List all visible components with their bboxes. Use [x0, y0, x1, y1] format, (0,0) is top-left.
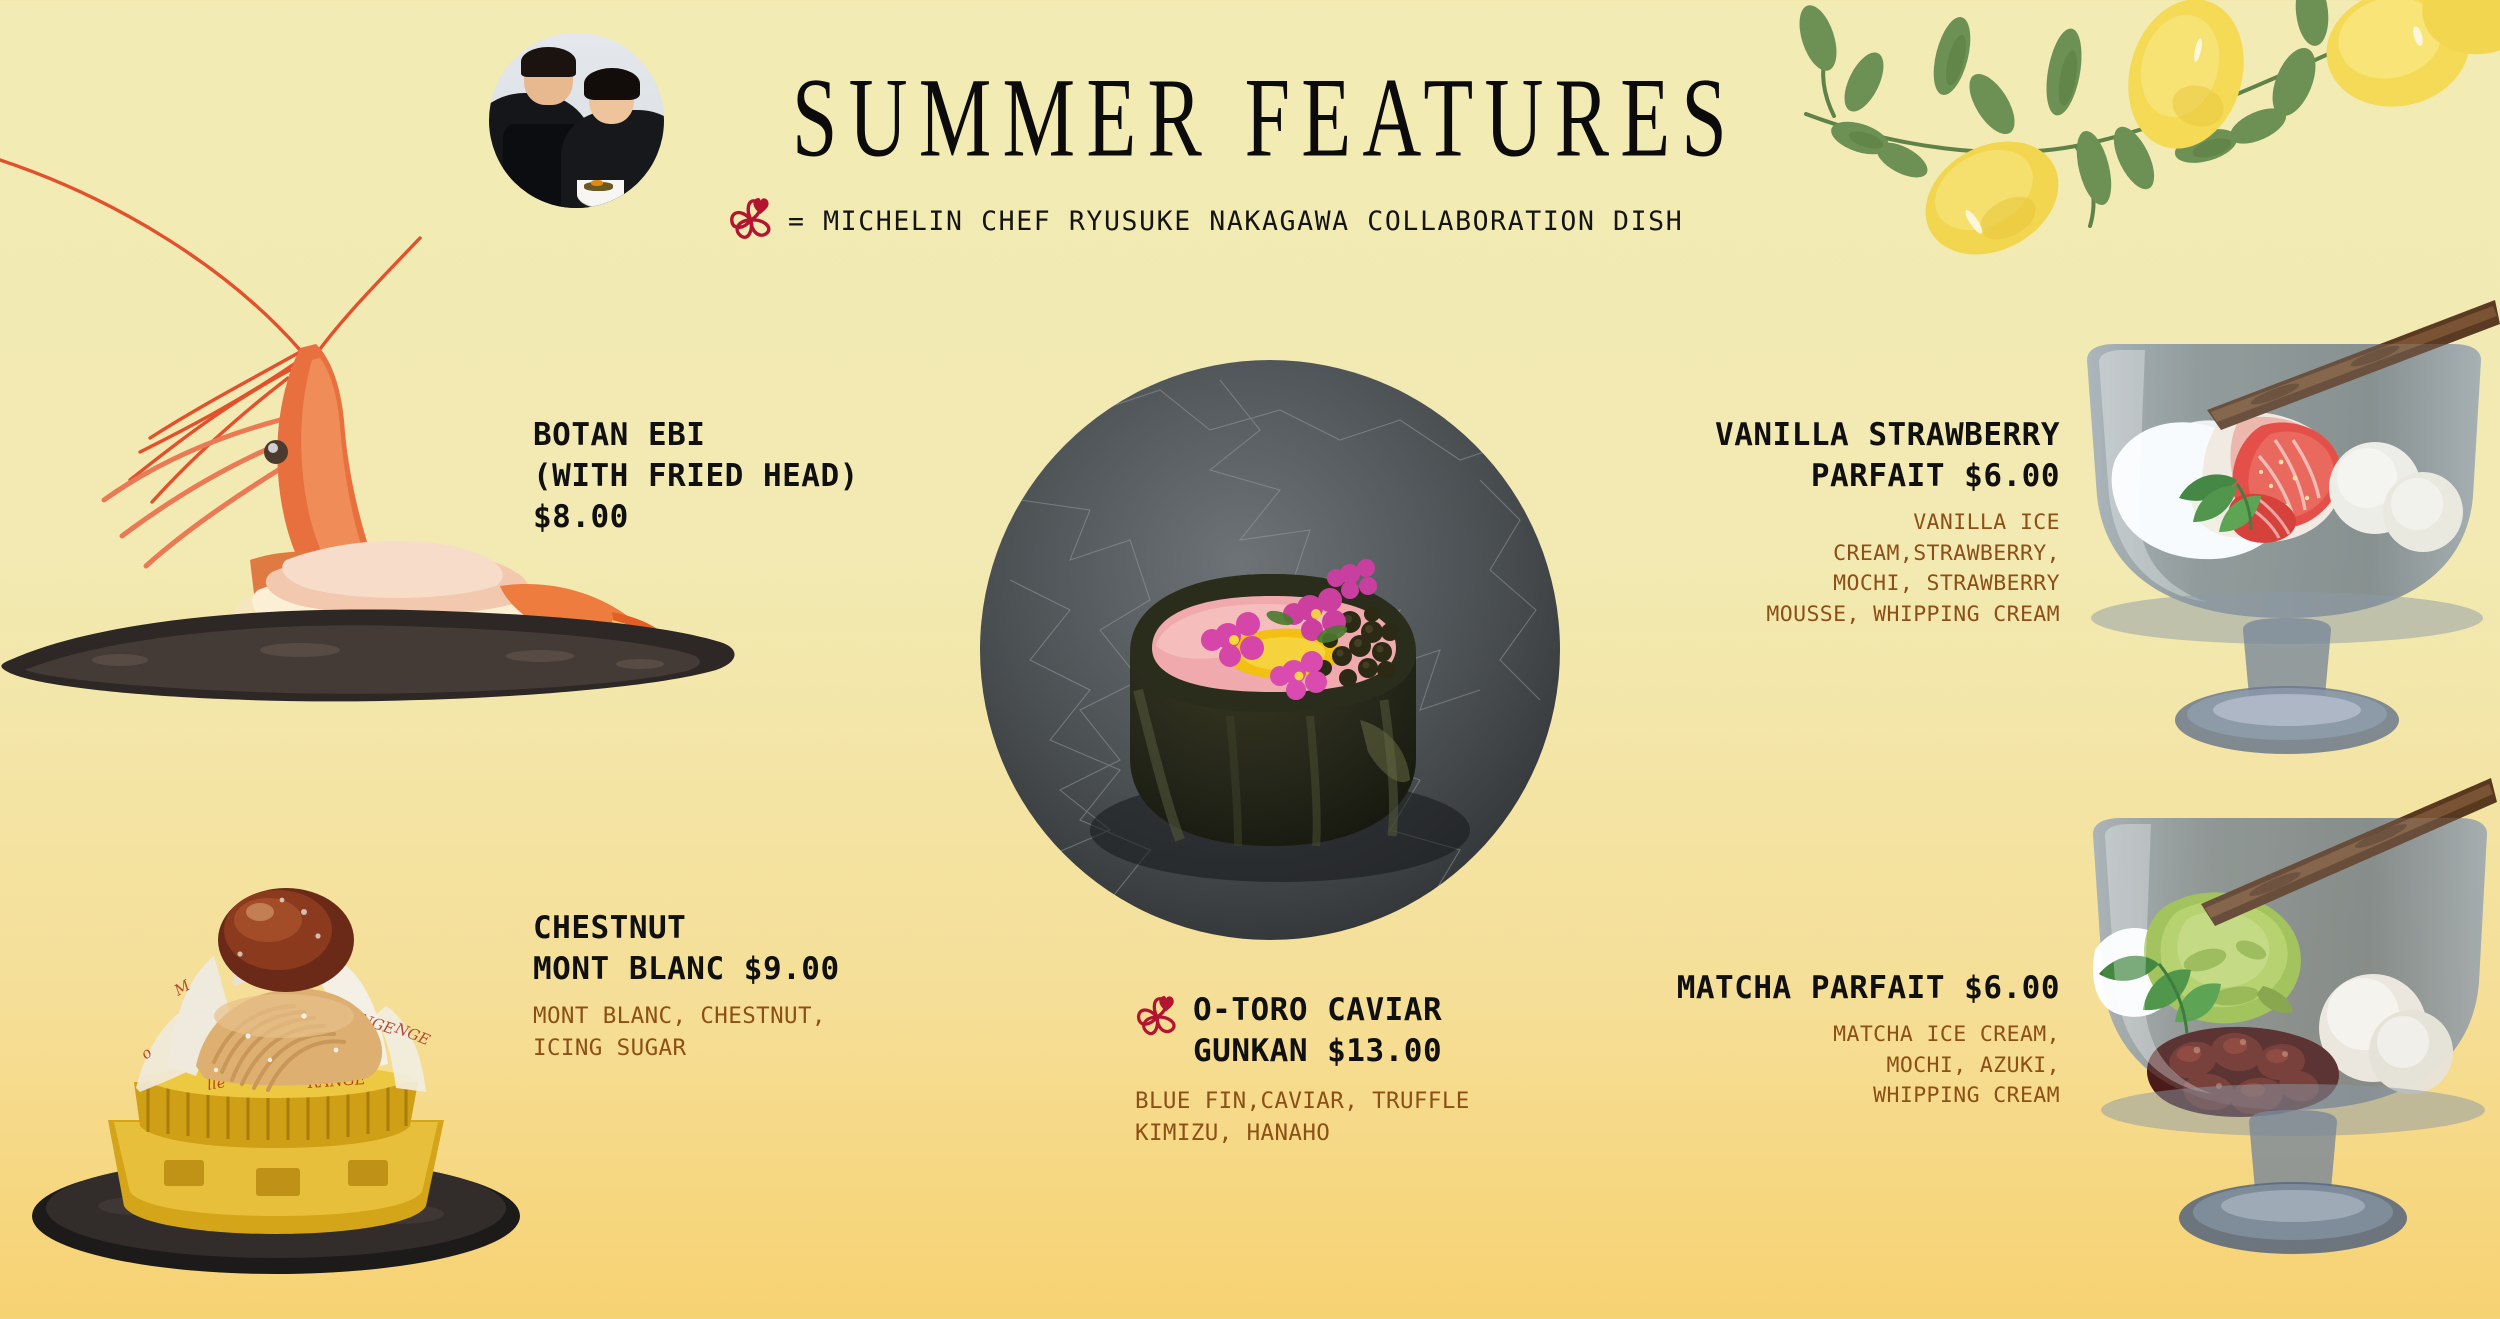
menu-poster: two chefs in black uniforms holding a pl… — [0, 0, 2500, 1319]
menu-item-vanilla-strawberry-parfait[interactable]: VANILLA STRAWBERRY PARFAIT $6.00 VANILLA… — [1530, 415, 2060, 631]
item-description: BLUE FIN,CAVIAR, TRUFFLE KIMIZU, HANAHO — [1135, 1086, 1470, 1150]
item-description: MONT BLANC, CHESTNUT, ICING SUGAR — [533, 1001, 840, 1065]
item-description: VANILLA ICE CREAM,STRAWBERRY, MOCHI, STR… — [1530, 508, 2060, 630]
chef-portrait-photo: two chefs in black uniforms holding a pl… — [489, 33, 664, 208]
chestnut-mont-blanc-photo: M o llé NGE ANGE RANGE — [18, 820, 578, 1280]
matcha-parfait-photo — [2085, 760, 2500, 1305]
lemon-branch-decoration — [1746, 0, 2500, 276]
page-title: SUMMER FEATURES — [760, 62, 1770, 176]
menu-item-chestnut-mont-blanc[interactable]: CHESTNUT MONT BLANC $9.00 MONT BLANC, CH… — [533, 908, 840, 1065]
menu-item-matcha-parfait[interactable]: MATCHA PARFAIT $6.00 MATCHA ICE CREAM, M… — [1530, 968, 2060, 1112]
vanilla-strawberry-parfait-photo — [2075, 300, 2500, 790]
michelin-legend-text: = MICHELIN CHEF RYUSUKE NAKAGAWA COLLABO… — [788, 206, 1683, 237]
michelin-flower-icon — [1135, 994, 1179, 1042]
item-name: CHESTNUT MONT BLANC $9.00 — [533, 908, 840, 990]
item-name: O-TORO CAVIAR GUNKAN $13.00 — [1193, 990, 1442, 1072]
michelin-legend: = MICHELIN CHEF RYUSUKE NAKAGAWA COLLABO… — [728, 196, 1683, 246]
botan-ebi-photo — [0, 120, 790, 740]
menu-item-o-toro-caviar-gunkan[interactable]: O-TORO CAVIAR GUNKAN $13.00 BLUE FIN,CAV… — [1135, 990, 1470, 1150]
item-name: VANILLA STRAWBERRY PARFAIT $6.00 — [1530, 415, 2060, 497]
item-description: MATCHA ICE CREAM, MOCHI, AZUKI, WHIPPING… — [1530, 1020, 2060, 1112]
item-name: MATCHA PARFAIT $6.00 — [1530, 968, 2060, 1009]
o-toro-gunkan-photo — [980, 360, 1560, 940]
